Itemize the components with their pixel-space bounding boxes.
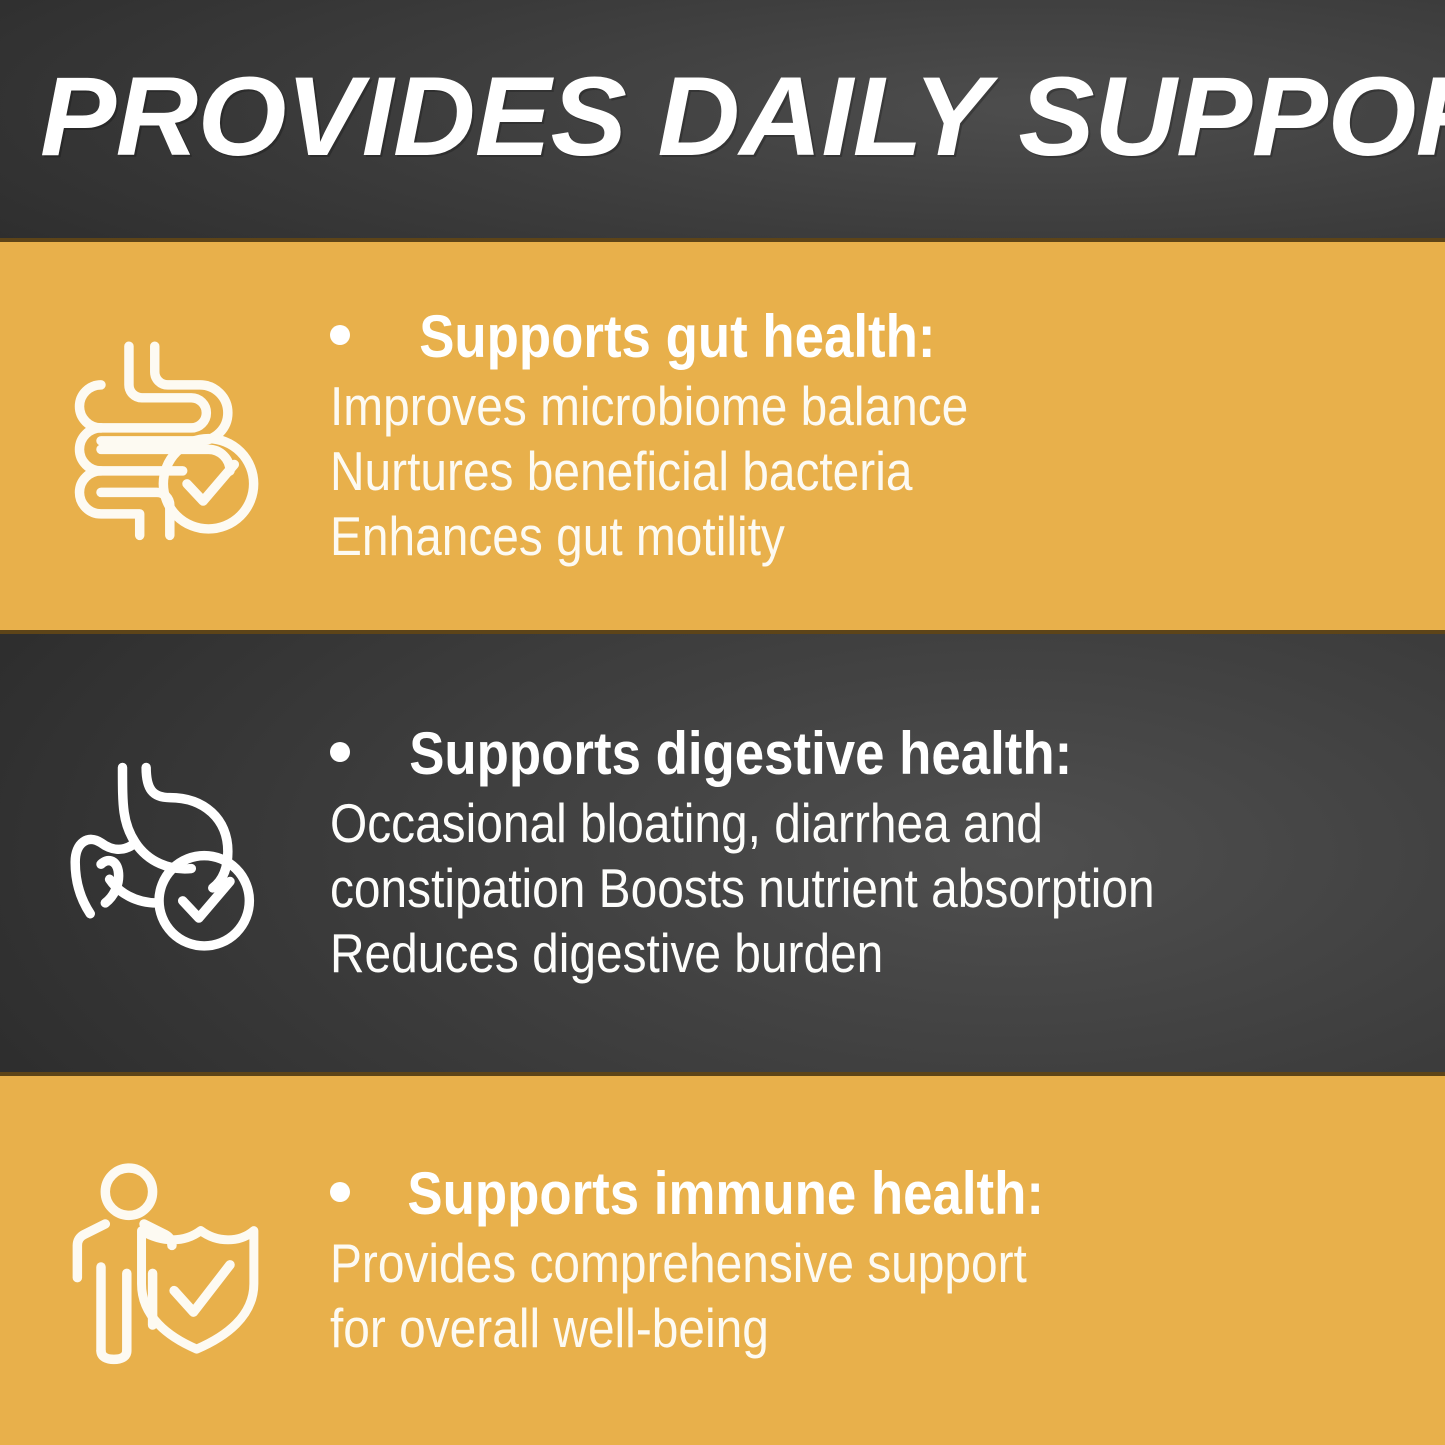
stomach-check-icon xyxy=(0,746,330,961)
person-shield-check-icon xyxy=(0,1153,330,1368)
infographic-root: PROVIDES DAILY SUPPORT S xyxy=(0,0,1445,1445)
heading-row: Supports immune health: xyxy=(330,1160,1419,1227)
section-digestive-health: Supports digestive health: Occasional bl… xyxy=(0,634,1445,1072)
section-text-gut-health: Supports gut health: Improves microbiome… xyxy=(330,303,1445,569)
body-line: Enhances gut motility xyxy=(330,504,1277,569)
bullet-icon xyxy=(330,325,350,345)
body-line: Improves microbiome balance xyxy=(330,374,1277,439)
header-band: PROVIDES DAILY SUPPORT xyxy=(0,0,1445,238)
section-heading: Supports immune health: xyxy=(407,1160,1044,1227)
body-line: constipation Boosts nutrient absorption xyxy=(330,856,1277,921)
intestine-check-icon xyxy=(0,329,330,544)
heading-row: Supports digestive health: xyxy=(330,720,1419,787)
section-gut-health: Supports gut health: Improves microbiome… xyxy=(0,242,1445,630)
section-body: Occasional bloating, diarrhea and consti… xyxy=(330,791,1419,986)
section-body: Improves microbiome balance Nurtures ben… xyxy=(330,374,1419,569)
body-line: Nurtures beneficial bacteria xyxy=(330,439,1277,504)
body-line: for overall well-being xyxy=(330,1296,1277,1361)
section-heading: Supports gut health: xyxy=(419,303,935,370)
section-heading: Supports digestive health: xyxy=(409,720,1072,787)
bullet-icon xyxy=(330,742,350,762)
section-text-digestive-health: Supports digestive health: Occasional bl… xyxy=(330,720,1445,986)
body-line: Reduces digestive burden xyxy=(330,921,1277,986)
section-text-immune-health: Supports immune health: Provides compreh… xyxy=(330,1160,1445,1361)
heading-row: Supports gut health: xyxy=(330,303,1419,370)
section-immune-health: Supports immune health: Provides compreh… xyxy=(0,1076,1445,1445)
section-body: Provides comprehensive support for overa… xyxy=(330,1231,1419,1361)
body-line: Provides comprehensive support xyxy=(330,1231,1277,1296)
body-line: Occasional bloating, diarrhea and xyxy=(330,791,1277,856)
bullet-icon xyxy=(330,1182,350,1202)
page-title: PROVIDES DAILY SUPPORT xyxy=(40,60,1445,174)
